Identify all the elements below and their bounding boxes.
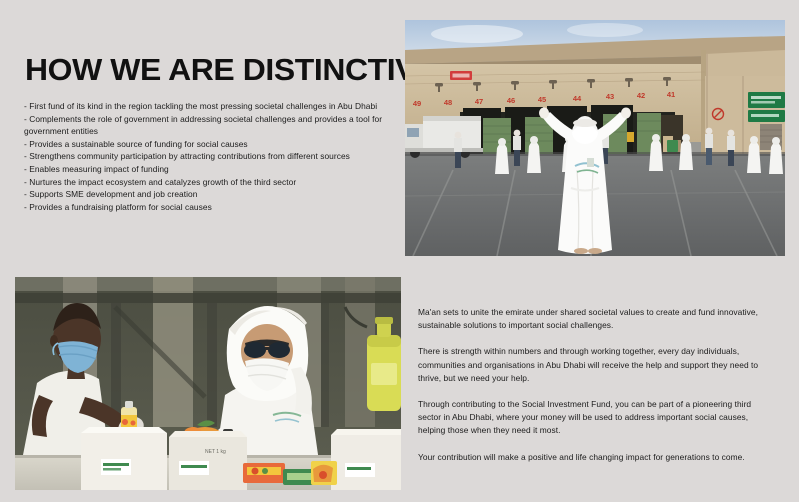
packing-boxes-illustration: NET 1 kg — [15, 277, 401, 490]
svg-text:49: 49 — [413, 99, 421, 108]
list-item: - Strengthens community participation by… — [24, 150, 396, 163]
list-item: - Complements the role of government in … — [24, 113, 396, 138]
paragraph: Ma'an sets to unite the emirate under sh… — [418, 306, 766, 332]
page-title: HOW WE ARE DISTINCTIVE? — [25, 52, 456, 88]
paragraph: There is strength within numbers and thr… — [418, 345, 766, 385]
distinctive-bullet-list: - First fund of its kind in the region t… — [24, 100, 396, 213]
svg-text:41: 41 — [667, 90, 675, 99]
relief-box: NET 1 kg — [169, 431, 247, 490]
body-copy-block: Ma'an sets to unite the emirate under sh… — [418, 306, 766, 464]
relief-box — [81, 427, 167, 490]
list-item: - Supports SME development and job creat… — [24, 188, 396, 201]
list-item: - Provides a sustainable source of fundi… — [24, 138, 396, 151]
list-item: - Nurtures the impact ecosystem and cata… — [24, 176, 396, 189]
svg-text:46: 46 — [507, 96, 515, 105]
photo-volunteers-packing-boxes: NET 1 kg — [15, 277, 401, 490]
svg-text:48: 48 — [444, 98, 452, 107]
photo-loading-dock-volunteers: 49 48 47 46 45 44 43 42 41 — [405, 20, 785, 256]
svg-text:44: 44 — [573, 94, 582, 103]
svg-text:42: 42 — [637, 91, 645, 100]
paragraph: Through contributing to the Social Inves… — [418, 398, 766, 438]
relief-box — [331, 429, 401, 490]
svg-text:47: 47 — [475, 97, 483, 106]
svg-text:NET 1 kg: NET 1 kg — [205, 449, 226, 455]
svg-text:43: 43 — [606, 92, 614, 101]
list-item: - Enables measuring impact of funding — [24, 163, 396, 176]
loading-dock-illustration: 49 48 47 46 45 44 43 42 41 — [405, 20, 785, 256]
list-item: - First fund of its kind in the region t… — [24, 100, 396, 113]
list-item: - Provides a fundraising platform for so… — [24, 201, 396, 214]
svg-text:45: 45 — [538, 95, 546, 104]
slide-canvas: HOW WE ARE DISTINCTIVE? - First fund of … — [0, 0, 799, 502]
paragraph: Your contribution will make a positive a… — [418, 451, 766, 464]
